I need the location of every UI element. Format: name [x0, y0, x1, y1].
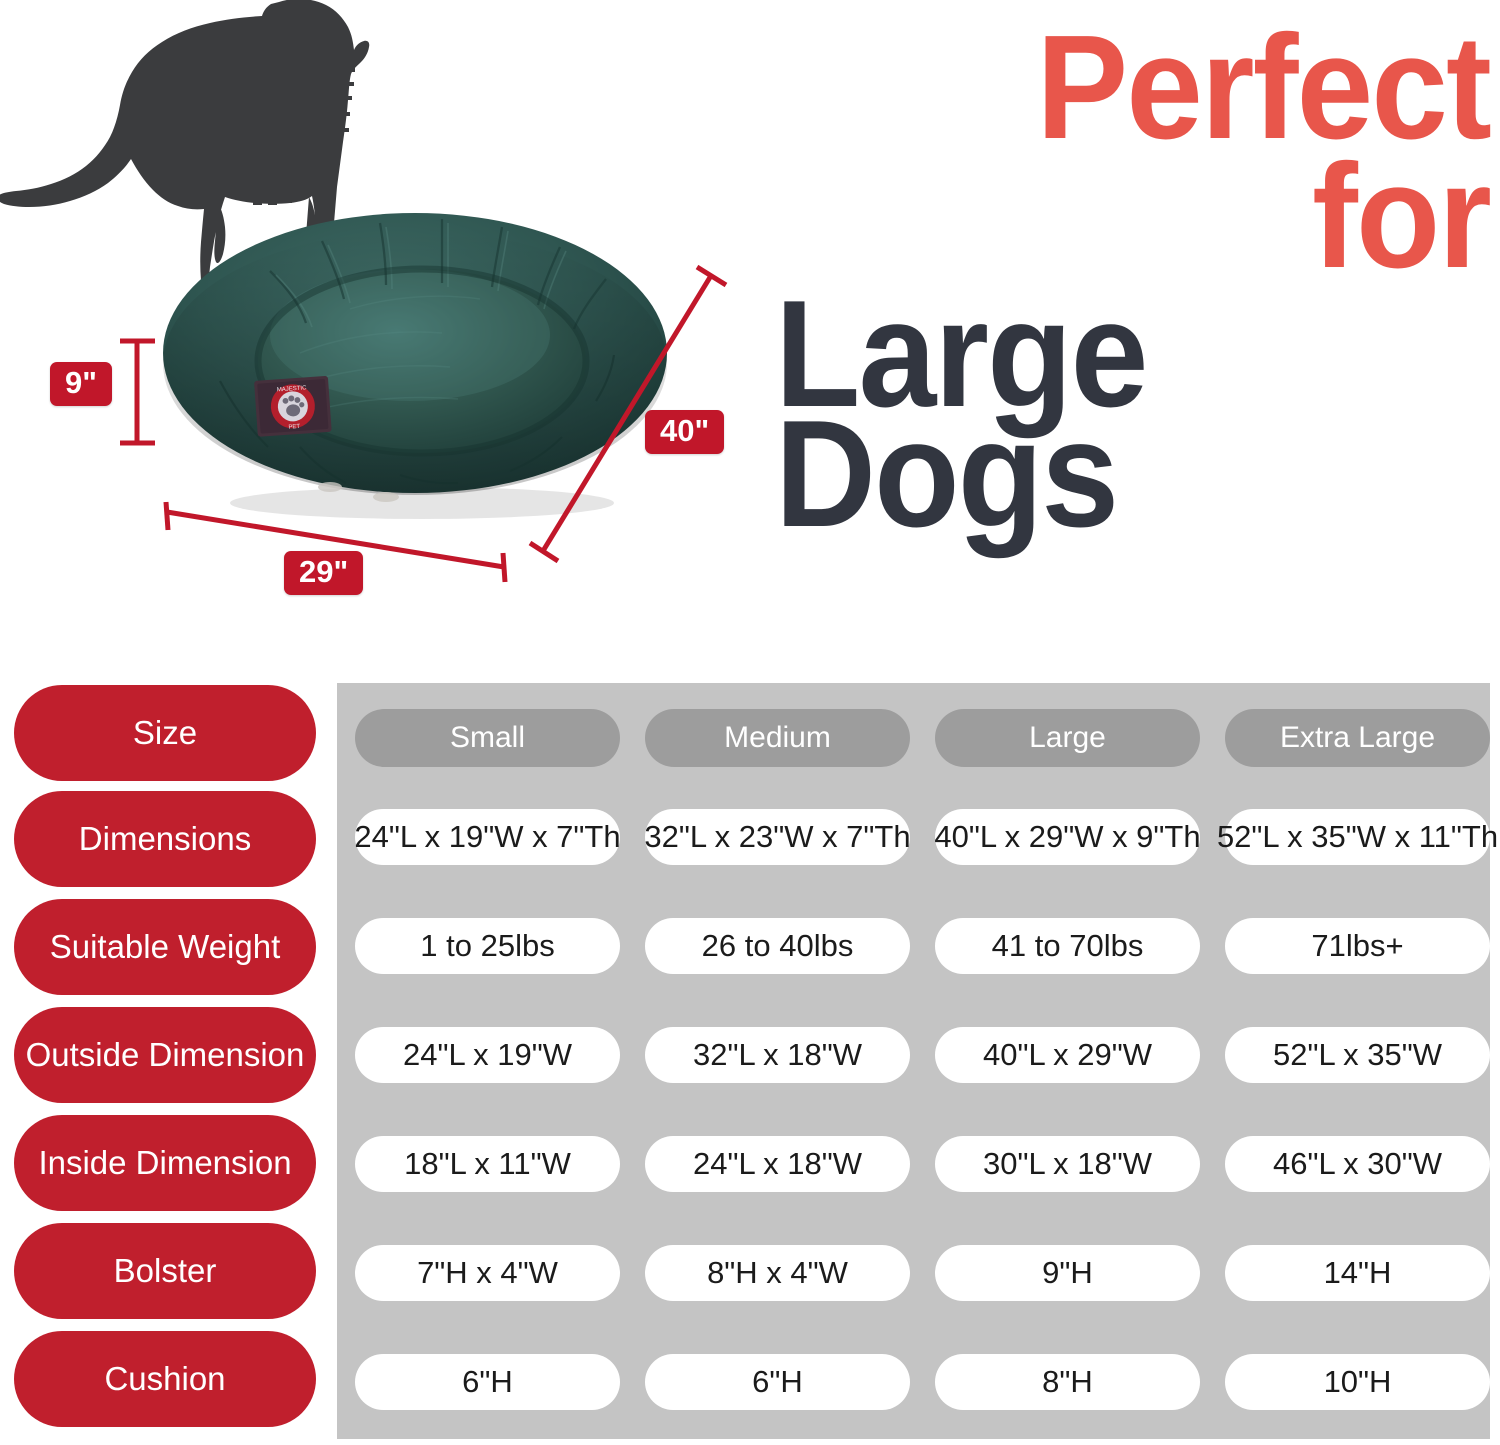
svg-text:PET: PET: [288, 424, 300, 431]
column-header-large[interactable]: Large: [935, 709, 1200, 767]
infographic-root: MAJESTIC PET: [0, 0, 1500, 1445]
callout-length-40in: 40": [645, 410, 724, 454]
cell-dimensions-medium: 32"L x 23"W x 7"Th: [645, 809, 910, 865]
cell-outside-small: 24"L x 19"W: [355, 1027, 620, 1083]
headline-line-3: Dogs: [775, 408, 1433, 540]
row-label-bolster: Bolster: [14, 1223, 316, 1319]
column-header-extra-large[interactable]: Extra Large: [1225, 709, 1490, 767]
cell-cushion-medium: 6"H: [645, 1354, 910, 1410]
cell-weight-extra-large: 71lbs+: [1225, 918, 1490, 974]
callout-height-9in: 9": [50, 362, 112, 406]
spec-value-grid: Small Medium Large Extra Large 24"L x 19…: [337, 683, 1490, 1439]
cell-weight-medium: 26 to 40lbs: [645, 918, 910, 974]
cell-bolster-small: 7"H x 4"W: [355, 1245, 620, 1301]
headline-line-1: Perfect for: [825, 24, 1490, 282]
cell-inside-medium: 24"L x 18"W: [645, 1136, 910, 1192]
cell-dimensions-large: 40"L x 29"W x 9"Th: [935, 809, 1200, 865]
brand-tag: MAJESTIC PET: [254, 376, 332, 437]
cell-inside-extra-large: 46"L x 30"W: [1225, 1136, 1490, 1192]
spec-row-label-column: Size Dimensions Suitable Weight Outside …: [14, 683, 316, 1439]
cell-dimensions-small: 24"L x 19"W x 7"Th: [355, 809, 620, 865]
cell-inside-small: 18"L x 11"W: [355, 1136, 620, 1192]
column-header-medium[interactable]: Medium: [645, 709, 910, 767]
headline: Perfect for Large Dogs: [775, 24, 1490, 540]
hero-section: MAJESTIC PET: [0, 0, 1500, 660]
callout-width-29in: 29": [284, 551, 363, 595]
cell-cushion-extra-large: 10"H: [1225, 1354, 1490, 1410]
cell-bolster-large: 9"H: [935, 1245, 1200, 1301]
cell-bolster-medium: 8"H x 4"W: [645, 1245, 910, 1301]
row-label-dimensions: Dimensions: [14, 791, 316, 887]
row-label-outside-dimension: Outside Dimension: [14, 1007, 316, 1103]
column-header-small[interactable]: Small: [355, 709, 620, 767]
cell-outside-medium: 32"L x 18"W: [645, 1027, 910, 1083]
row-label-inside-dimension: Inside Dimension: [14, 1115, 316, 1211]
cell-weight-small: 1 to 25lbs: [355, 918, 620, 974]
cell-inside-large: 30"L x 18"W: [935, 1136, 1200, 1192]
cell-bolster-extra-large: 14"H: [1225, 1245, 1490, 1301]
row-label-suitable-weight: Suitable Weight: [14, 899, 316, 995]
cell-cushion-small: 6"H: [355, 1354, 620, 1410]
product-photo-dog-bed: MAJESTIC PET: [150, 185, 680, 525]
row-label-cushion: Cushion: [14, 1331, 316, 1427]
row-label-size: Size: [14, 685, 316, 781]
cell-cushion-large: 8"H: [935, 1354, 1200, 1410]
cell-weight-large: 41 to 70lbs: [935, 918, 1200, 974]
cell-outside-large: 40"L x 29"W: [935, 1027, 1200, 1083]
cell-dimensions-extra-large: 52"L x 35"W x 11"Th: [1225, 809, 1490, 865]
cell-outside-extra-large: 52"L x 35"W: [1225, 1027, 1490, 1083]
spec-table: Size Dimensions Suitable Weight Outside …: [0, 683, 1500, 1439]
